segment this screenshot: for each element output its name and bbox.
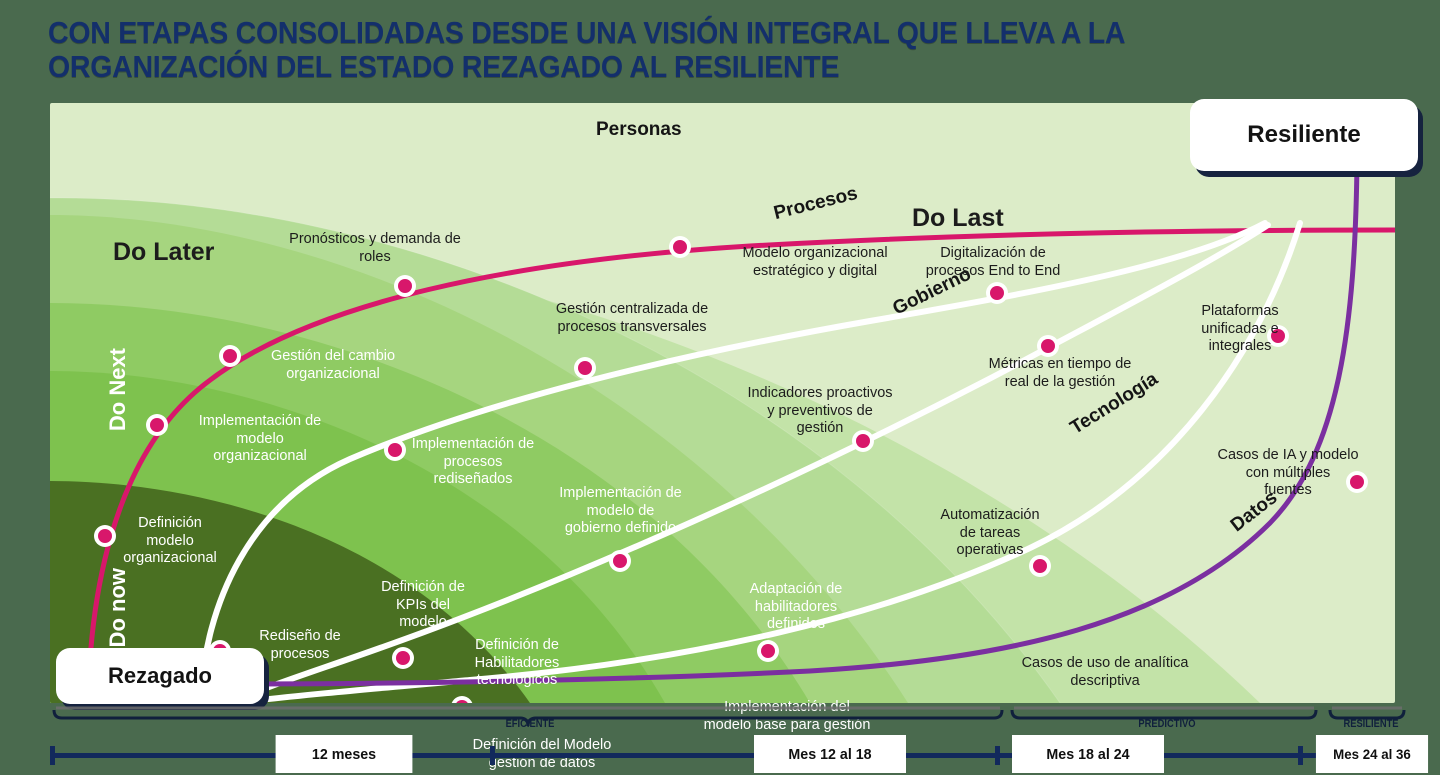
timeline-tick-2 [995, 746, 1000, 765]
zone-label-do-now: Do now [105, 568, 131, 647]
dot-procesos-3[interactable] [574, 357, 596, 379]
timeline-tick-3 [1298, 746, 1303, 765]
dot-personas-2[interactable] [146, 414, 168, 436]
brace-resiliente [1330, 710, 1404, 718]
phase-label-predictivo: PREDICTIVO [1120, 718, 1214, 730]
dot-gobierno-3[interactable] [852, 430, 874, 452]
dot-gobierno-1[interactable] [392, 647, 414, 669]
roadmap-canvas [50, 103, 1395, 703]
dot-procesos-4[interactable] [986, 282, 1008, 304]
page-title: CON ETAPAS CONSOLIDADAS DESDE UNA VISIÓN… [48, 16, 1281, 84]
dot-tecnologia-4[interactable] [1267, 325, 1289, 347]
start-state-box[interactable]: Rezagado [56, 648, 264, 704]
timeline-box-2[interactable]: Mes 12 al 18 [754, 735, 906, 773]
dot-gobierno-2[interactable] [609, 550, 631, 572]
phase-label-eficiente: EFICIENTE [488, 718, 573, 730]
dot-procesos-2[interactable] [384, 439, 406, 461]
dot-personas-4[interactable] [394, 275, 416, 297]
zone-label-do-last: Do Last [912, 204, 1004, 233]
dot-tecnologia-2[interactable] [757, 640, 779, 662]
zone-label-do-next: Do Next [105, 348, 131, 431]
dot-gobierno-4[interactable] [1037, 335, 1059, 357]
timeline-row: 12 meses Mes 12 al 18 Mes 18 al 24 Mes 2… [50, 735, 1425, 775]
stream-label-personas: Personas [596, 119, 682, 141]
dot-datos-4[interactable] [1346, 471, 1368, 493]
brace-predictivo [1012, 710, 1316, 718]
slide-root: CON ETAPAS CONSOLIDADAS DESDE UNA VISIÓN… [0, 0, 1440, 775]
timeline-box-4[interactable]: Mes 24 al 36 [1316, 735, 1428, 773]
dot-personas-1[interactable] [94, 525, 116, 547]
timeline-box-1[interactable]: 12 meses [276, 735, 413, 773]
dot-personas-5[interactable] [669, 236, 691, 258]
dot-personas-3[interactable] [219, 345, 241, 367]
maturity-bands [50, 103, 1395, 703]
timeline-tick-1 [490, 746, 495, 765]
roadmap-chart: Do Later Do Last Do Next Do now Personas… [50, 103, 1395, 703]
zone-label-do-later: Do Later [113, 238, 214, 267]
phase-brace-row: EFICIENTE PREDICTIVO RESILIENTE [50, 706, 1410, 732]
dot-tecnologia-3[interactable] [1029, 555, 1051, 577]
timeline-rail [53, 753, 1423, 758]
timeline-box-3[interactable]: Mes 18 al 24 [1012, 735, 1164, 773]
end-state-box[interactable]: Resiliente [1190, 99, 1418, 171]
phase-label-resiliente: RESILIENTE [1324, 718, 1418, 730]
